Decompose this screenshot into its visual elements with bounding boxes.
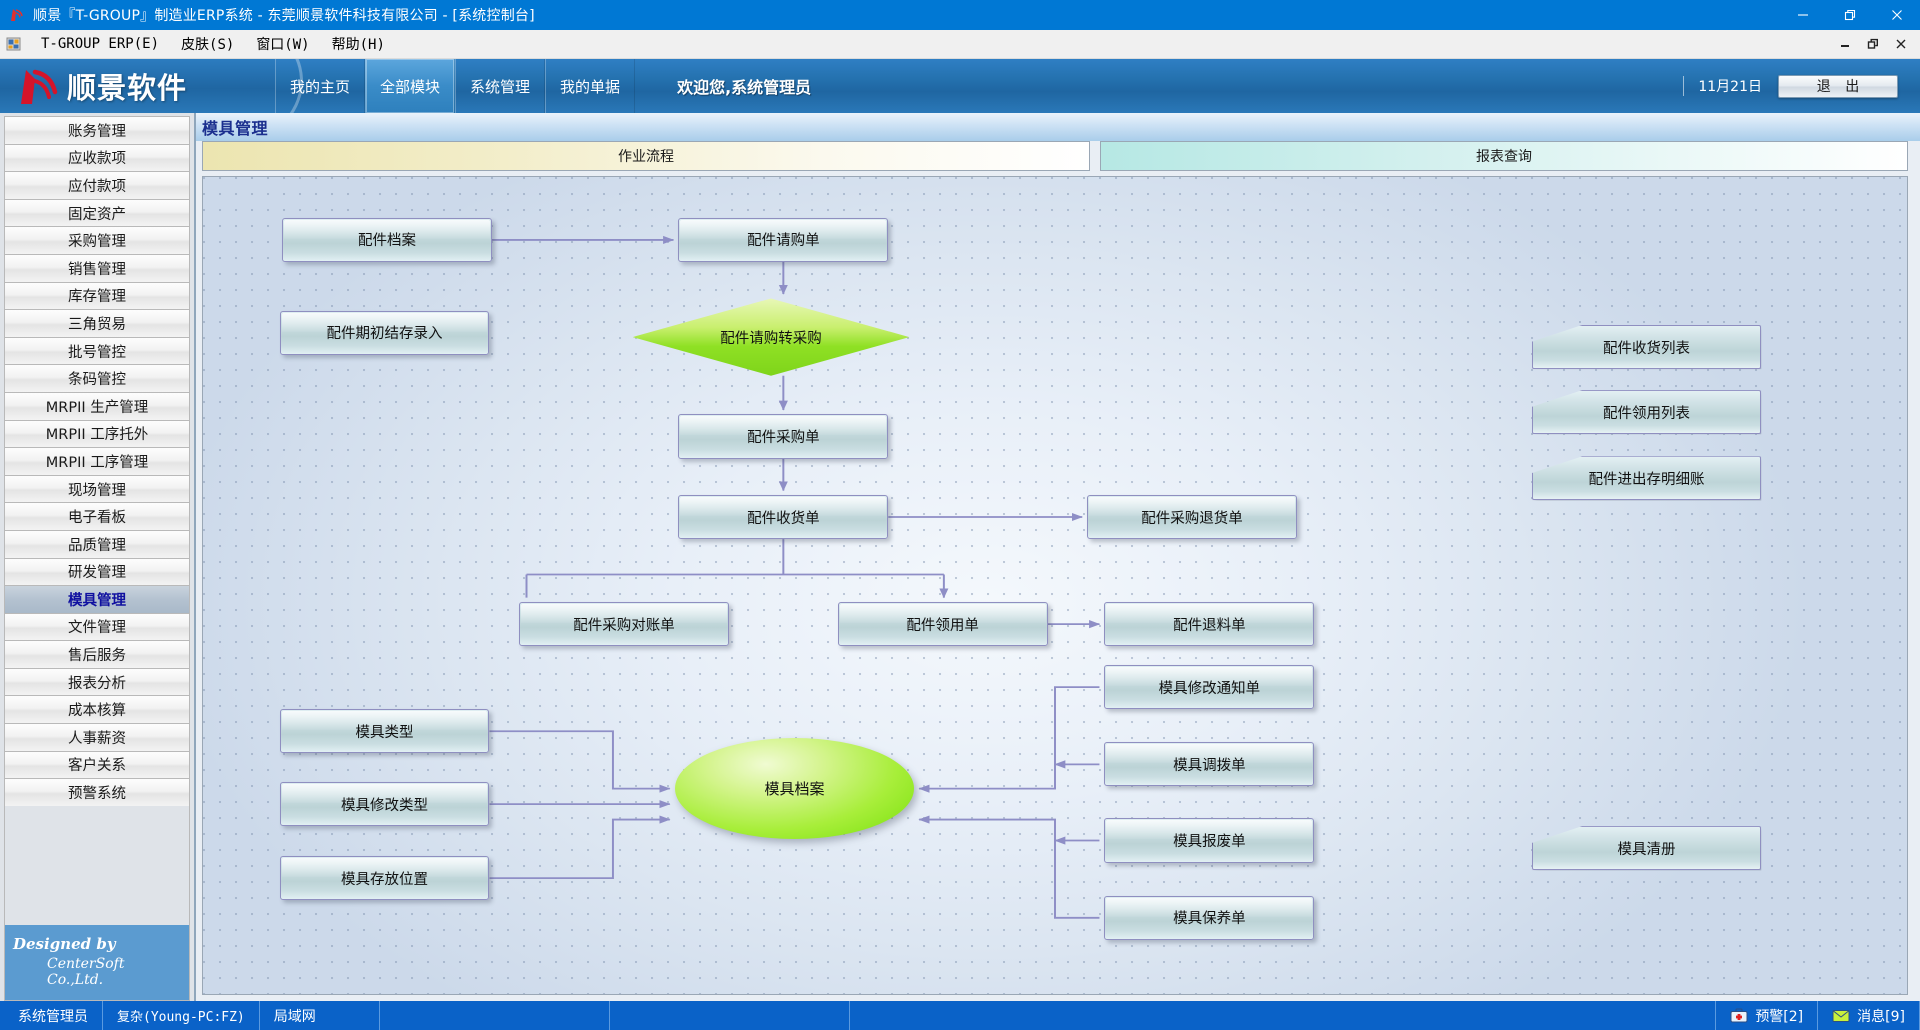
- flow-node-label: 模具修改通知单: [1159, 677, 1261, 698]
- flow-edge-5: [527, 539, 944, 598]
- sidebar-item-mold-management[interactable]: 模具管理: [4, 585, 190, 613]
- flow-node-n15[interactable]: 模具修改通知单: [1104, 665, 1314, 709]
- flow-node-label: 模具报废单: [1173, 830, 1246, 851]
- status-alert-label: 预警[2]: [1755, 1006, 1803, 1026]
- flow-node-n6[interactable]: 配件收货单: [678, 495, 888, 539]
- flow-node-n12[interactable]: 模具修改类型: [280, 782, 490, 826]
- flow-node-n9[interactable]: 配件领用单: [838, 602, 1048, 646]
- flow-node-label: 配件期初结存录入: [327, 322, 443, 343]
- flow-node-r2[interactable]: 配件领用列表: [1532, 390, 1762, 434]
- flowchart-canvas[interactable]: 配件档案配件请购单配件期初结存录入配件请购转采购配件采购单配件收货单配件采购退货…: [202, 176, 1908, 995]
- flow-node-label: 模具保养单: [1173, 907, 1246, 928]
- nav-tab-all-modules[interactable]: 全部模块: [365, 59, 455, 113]
- status-blank-2: [610, 1001, 850, 1030]
- flow-node-n14[interactable]: 模具档案: [675, 738, 915, 840]
- window-titlebar: 顺景『T-GROUP』制造业ERP系统 - 东莞顺景软件科技有限公司 - [系统…: [0, 0, 1920, 30]
- flow-node-n10[interactable]: 配件退料单: [1104, 602, 1314, 646]
- flow-node-n5[interactable]: 配件采购单: [678, 414, 888, 458]
- flow-node-label: 配件采购对账单: [573, 614, 675, 635]
- sidebar-item-sales[interactable]: 销售管理: [4, 254, 190, 282]
- flow-node-n1[interactable]: 配件档案: [282, 218, 492, 262]
- status-network: 局域网: [260, 1001, 380, 1030]
- mdi-close-icon[interactable]: [1888, 33, 1914, 55]
- sidebar-item-accounting[interactable]: 账务管理: [4, 116, 190, 144]
- maximize-icon[interactable]: [1826, 0, 1873, 30]
- sidebar-item-mrp2-outsource[interactable]: MRPII 工序托外: [4, 420, 190, 448]
- flow-node-label: 模具修改类型: [341, 794, 428, 815]
- flow-node-label: 模具类型: [356, 721, 414, 742]
- flow-edge-13: [919, 820, 1099, 918]
- header-right-area: 11月21日 退 出: [1683, 59, 1920, 113]
- flow-node-n7[interactable]: 配件采购退货单: [1087, 495, 1297, 539]
- brand-name: 顺景软件: [67, 65, 187, 107]
- flow-edge-10: [919, 687, 1099, 789]
- designed-by-label: Designed by: [13, 935, 181, 953]
- flow-node-label: 配件采购单: [747, 426, 820, 447]
- menu-window[interactable]: 窗口(W): [245, 31, 320, 57]
- flow-node-r1[interactable]: 配件收货列表: [1532, 325, 1762, 369]
- flow-node-n2[interactable]: 配件请购单: [678, 218, 888, 262]
- flow-node-label: 配件退料单: [1173, 614, 1246, 635]
- flow-node-label: 模具调拨单: [1173, 754, 1246, 775]
- sidebar-item-mrp2-process[interactable]: MRPII 工序管理: [4, 447, 190, 475]
- nav-tabs: 我的主页 全部模块 系统管理 我的单据: [275, 59, 635, 113]
- sidebar-item-quality[interactable]: 品质管理: [4, 530, 190, 558]
- sidebar-item-payables[interactable]: 应付款项: [4, 171, 190, 199]
- flow-node-r3[interactable]: 配件进出存明细账: [1532, 456, 1762, 500]
- nav-tab-system-admin[interactable]: 系统管理: [455, 59, 545, 113]
- flow-node-label: 配件领用单: [906, 614, 979, 635]
- flow-edge-7: [489, 731, 669, 788]
- brand-area: 顺景软件: [0, 59, 275, 113]
- flow-node-label: 模具清册: [1617, 838, 1675, 859]
- menu-t-group-erp[interactable]: T-GROUP ERP(E): [30, 33, 170, 55]
- flow-node-n8[interactable]: 配件采购对账单: [519, 602, 729, 646]
- status-machine: 复杂(Young-PC:FZ): [103, 1001, 260, 1030]
- flow-node-n18[interactable]: 模具保养单: [1104, 896, 1314, 940]
- flow-node-n16[interactable]: 模具调拨单: [1104, 742, 1314, 786]
- status-blank-1: [380, 1001, 610, 1030]
- flow-node-label: 配件采购退货单: [1141, 507, 1243, 528]
- flow-node-label: 配件收货单: [747, 507, 820, 528]
- sidebar-item-document[interactable]: 文件管理: [4, 613, 190, 641]
- flow-node-r4[interactable]: 模具清册: [1532, 826, 1762, 870]
- tab-workflow[interactable]: 作业流程: [202, 141, 1090, 171]
- flow-node-label: 模具存放位置: [341, 868, 428, 889]
- sidebar-item-cost-accounting[interactable]: 成本核算: [4, 695, 190, 723]
- page-title: 模具管理: [202, 115, 268, 139]
- shunjing-logo-icon: [16, 66, 60, 106]
- sidebar-item-report-analysis[interactable]: 报表分析: [4, 668, 190, 696]
- sidebar-item-e-kanban[interactable]: 电子看板: [4, 502, 190, 530]
- sidebar-item-alert-system[interactable]: 预警系统: [4, 778, 190, 806]
- menubar: T-GROUP ERP(E) 皮肤(S) 窗口(W) 帮助(H): [0, 30, 1920, 59]
- flow-tabs: 作业流程 报表查询: [196, 141, 1920, 174]
- sidebar-item-barcode-control[interactable]: 条码管控: [4, 364, 190, 392]
- flow-node-n3[interactable]: 配件期初结存录入: [280, 311, 490, 355]
- app-header: 顺景软件 我的主页 全部模块 系统管理 我的单据 欢迎您,系统管理员 11月21…: [0, 59, 1920, 113]
- body-wrapper: 账务管理 应收款项 应付款项 固定资产 采购管理 销售管理 库存管理 三角贸易 …: [0, 113, 1920, 1001]
- statusbar: 系统管理员 复杂(Young-PC:FZ) 局域网 预警[2]: [0, 1001, 1920, 1030]
- flow-node-label: 配件请购转采购: [720, 327, 822, 348]
- minimize-icon[interactable]: [1779, 0, 1826, 30]
- status-message-button[interactable]: 消息[9]: [1817, 1001, 1920, 1030]
- header-date: 11月21日: [1683, 76, 1762, 96]
- sidebar-item-purchasing[interactable]: 采购管理: [4, 226, 190, 254]
- flow-node-n13[interactable]: 模具存放位置: [280, 856, 490, 900]
- flow-node-n11[interactable]: 模具类型: [280, 709, 490, 753]
- flow-node-n17[interactable]: 模具报废单: [1104, 818, 1314, 862]
- company-label: CenterSoft Co.,Ltd.: [13, 956, 181, 988]
- flow-edge-9: [489, 820, 669, 879]
- window-title: 顺景『T-GROUP』制造业ERP系统 - 东莞顺景软件科技有限公司 - [系统…: [33, 5, 535, 25]
- sidebar: 账务管理 应收款项 应付款项 固定资产 采购管理 销售管理 库存管理 三角贸易 …: [0, 113, 196, 1001]
- window-controls: [1779, 0, 1920, 30]
- canvas-container: 配件档案配件请购单配件期初结存录入配件请购转采购配件采购单配件收货单配件采购退货…: [196, 174, 1920, 1001]
- status-user: 系统管理员: [0, 1001, 103, 1030]
- menu-help[interactable]: 帮助(H): [321, 31, 396, 57]
- flow-node-label: 配件领用列表: [1603, 402, 1690, 423]
- status-message-label: 消息[9]: [1857, 1006, 1905, 1026]
- mdi-window-controls: [1832, 33, 1914, 55]
- sidebar-item-inventory[interactable]: 库存管理: [4, 282, 190, 310]
- close-icon[interactable]: [1873, 0, 1920, 30]
- app-logo-icon: [9, 7, 25, 23]
- sidebar-footer: Designed by CenterSoft Co.,Ltd.: [4, 925, 190, 1001]
- sidebar-item-receivables[interactable]: 应收款项: [4, 144, 190, 172]
- mdi-minimize-icon[interactable]: [1832, 33, 1858, 55]
- sidebar-item-hr-payroll[interactable]: 人事薪资: [4, 723, 190, 751]
- mail-icon: [1832, 1008, 1850, 1023]
- flow-node-label: 配件请购单: [747, 229, 820, 250]
- page-title-bar: 模具管理: [196, 113, 1920, 141]
- flow-node-label: 模具档案: [764, 778, 824, 799]
- welcome-message: 欢迎您,系统管理员: [635, 59, 811, 113]
- alert-kit-icon: [1730, 1008, 1748, 1023]
- flow-node-n4[interactable]: 配件请购转采购: [633, 298, 910, 375]
- exit-button[interactable]: 退 出: [1778, 75, 1898, 98]
- flow-node-label: 配件进出存明细账: [1588, 468, 1704, 489]
- content-area: 模具管理 作业流程 报表查询 配件档案配件请购单配件期初结存录入配件请购转采购配…: [196, 113, 1920, 1001]
- sidebar-item-triangle-trade[interactable]: 三角贸易: [4, 309, 190, 337]
- mdi-system-icon: [6, 36, 22, 52]
- status-alert-button[interactable]: 预警[2]: [1715, 1001, 1817, 1030]
- sidebar-item-batch-control[interactable]: 批号管控: [4, 337, 190, 365]
- status-right-group: 预警[2] 消息[9]: [1715, 1001, 1920, 1030]
- mdi-restore-icon[interactable]: [1860, 33, 1886, 55]
- sidebar-item-after-sales[interactable]: 售后服务: [4, 640, 190, 668]
- flow-node-label: 配件收货列表: [1603, 337, 1690, 358]
- sidebar-item-rnd[interactable]: 研发管理: [4, 558, 190, 586]
- sidebar-item-mrp2-production[interactable]: MRPII 生产管理: [4, 392, 190, 420]
- flow-node-label: 配件档案: [358, 229, 416, 250]
- sidebar-spacer: [4, 806, 190, 925]
- tab-report-query[interactable]: 报表查询: [1100, 141, 1908, 171]
- menu-skin[interactable]: 皮肤(S): [170, 31, 245, 57]
- sidebar-item-crm[interactable]: 客户关系: [4, 751, 190, 779]
- nav-tab-my-documents[interactable]: 我的单据: [545, 59, 635, 113]
- sidebar-item-shopfloor[interactable]: 现场管理: [4, 475, 190, 503]
- sidebar-item-fixed-assets[interactable]: 固定资产: [4, 199, 190, 227]
